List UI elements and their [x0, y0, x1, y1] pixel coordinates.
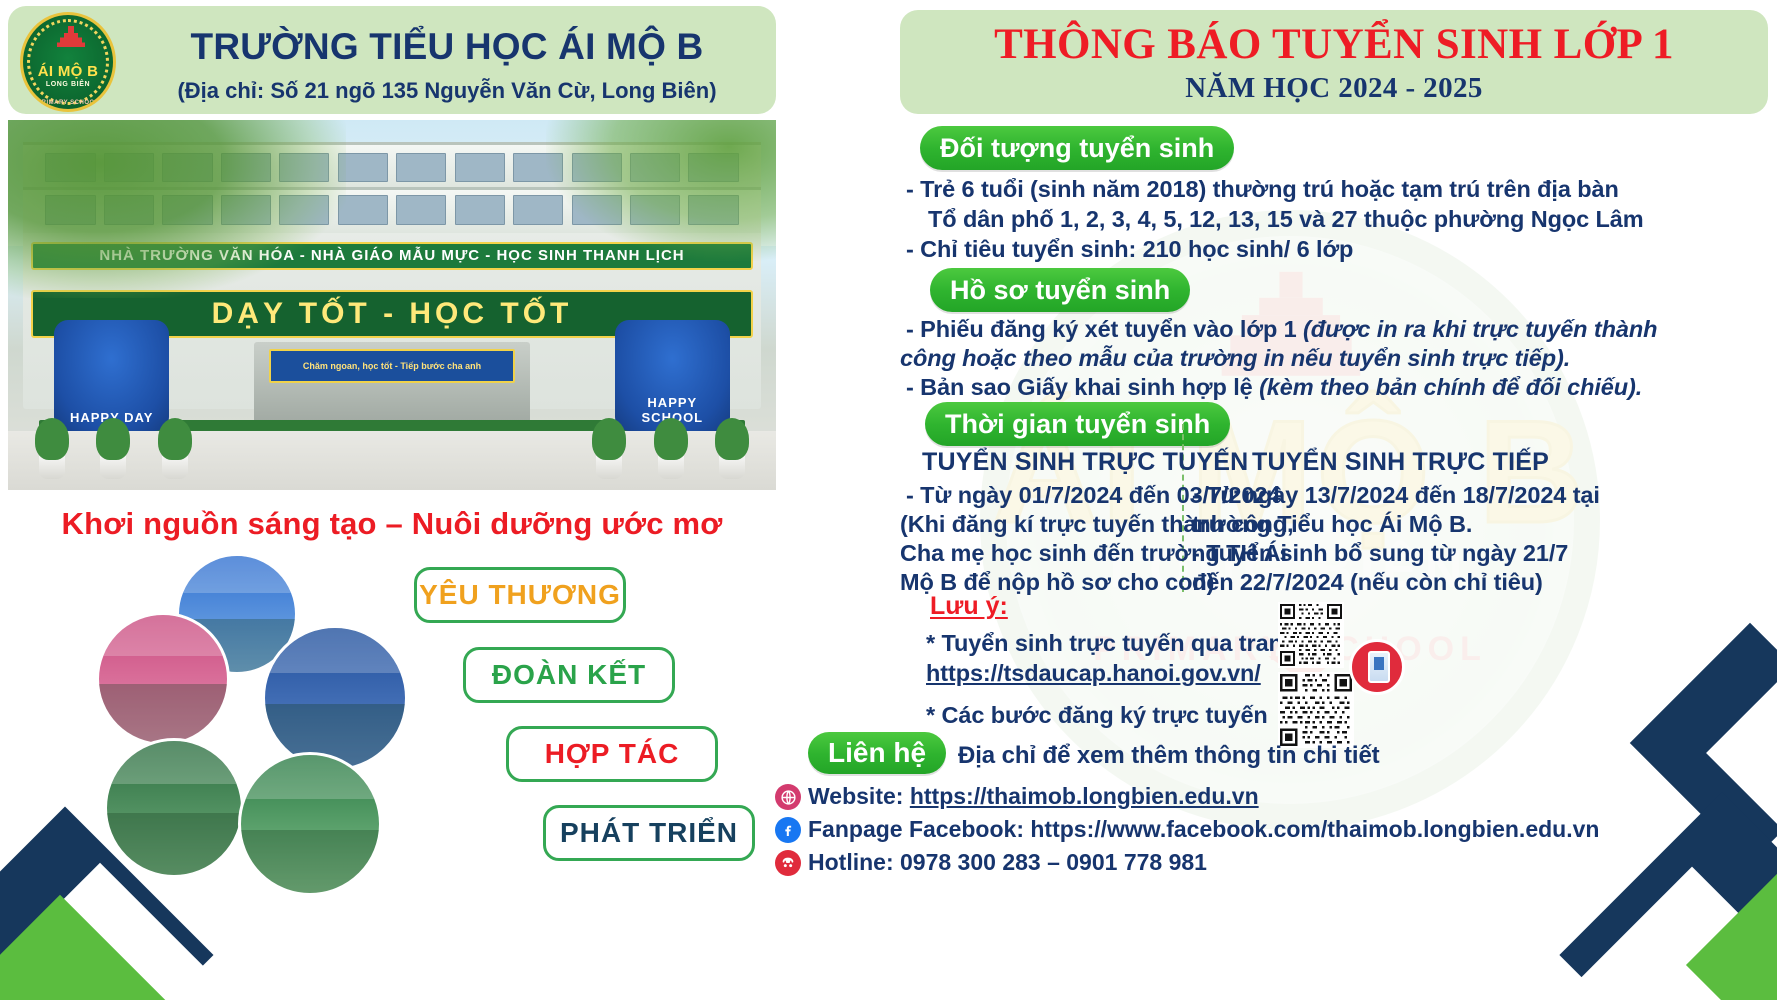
- audience-line-1: - Trẻ 6 tuổi (sinh năm 2018) thường trú …: [906, 176, 1619, 203]
- logo-name: ÁI MỘ B: [23, 63, 113, 80]
- school-address: (Địa chỉ: Số 21 ngõ 135 Nguyễn Văn Cừ, L…: [124, 78, 770, 104]
- section-heading-dossier-label: Hồ sơ tuyển sinh: [950, 275, 1170, 306]
- website-label: Website:: [808, 783, 903, 809]
- activity-photo-circle: [238, 752, 382, 896]
- dossier-item-1-italic: (được in ra khi trực tuyến thành: [1303, 316, 1657, 342]
- photo-balloon-right: HAPPY SCHOOL: [615, 320, 730, 431]
- value-chip-hop-tac: HỢP TÁC: [506, 726, 718, 782]
- logo-sub2: PRIMARY SCHOOL: [23, 100, 113, 106]
- section-heading-time-label: Thời gian tuyển sinh: [945, 409, 1210, 440]
- qr-code-registration[interactable]: [1278, 602, 1344, 668]
- offline-column-title: TUYỂN SINH TRỰC TIẾP: [1252, 448, 1549, 477]
- logo-sub: LONG BIÊN: [23, 81, 113, 88]
- section-heading-audience-label: Đối tượng tuyển sinh: [940, 133, 1214, 164]
- school-header-banner: ÁI MỘ B LONG BIÊN PRIMARY SCHOOL TRƯỜNG …: [8, 6, 776, 114]
- facebook-line: Fanpage Facebook: https://www.facebook.c…: [808, 816, 1599, 843]
- activity-photo-circle: [96, 612, 230, 746]
- school-photo: NHÀ TRƯỜNG VĂN HÓA - NHÀ GIÁO MẪU MỰC - …: [8, 120, 776, 490]
- section-heading-time: Thời gian tuyển sinh: [925, 402, 1230, 446]
- value-chip-label: HỢP TÁC: [545, 738, 680, 770]
- facebook-url[interactable]: https://www.facebook.com/thaimob.longbie…: [1030, 816, 1599, 842]
- dossier-item-2-italic: (kèm theo bản chính để đối chiếu).: [1259, 374, 1642, 400]
- facebook-label: Fanpage Facebook:: [808, 816, 1024, 842]
- activity-photo-circle: [262, 625, 408, 771]
- qr-code-steps[interactable]: [1278, 672, 1354, 748]
- note-line-1: * Tuyển sinh trực tuyến qua trang: [926, 630, 1297, 657]
- website-url[interactable]: https://thaimob.longbien.edu.vn: [910, 783, 1259, 809]
- school-logo: ÁI MỘ B LONG BIÊN PRIMARY SCHOOL: [20, 12, 116, 112]
- photo-tree-left: [8, 120, 346, 298]
- value-chip-label: ĐOÀN KẾT: [492, 659, 646, 691]
- dossier-item-2-bold: - Bản sao Giấy khai sinh hợp lệ: [906, 374, 1253, 400]
- section-heading-dossier: Hồ sơ tuyển sinh: [930, 268, 1190, 312]
- announcement-title: THÔNG BÁO TUYỂN SINH LỚP 1: [900, 20, 1768, 69]
- value-chip-label: YÊU THƯƠNG: [419, 579, 621, 611]
- hotline-value: 0978 300 283 – 0901 778 981: [900, 849, 1207, 875]
- contact-pill: Liên hệ: [808, 732, 946, 774]
- page-title: TRƯỜNG TIỂU HỌC ÁI MỘ B: [124, 26, 770, 68]
- photo-entrance-banner: Chăm ngoan, học tốt - Tiếp bước cha anh: [269, 349, 515, 382]
- offline-line-2: trường Tiểu học Ái Mộ B.: [1192, 511, 1472, 538]
- offline-line-3: - Tuyển sinh bổ sung từ ngày 21/7: [1192, 540, 1568, 567]
- facebook-icon: [775, 817, 801, 843]
- activity-photo-circle: [104, 738, 244, 878]
- hotline-label: Hotline:: [808, 849, 894, 875]
- offline-line-1: - Từ ngày 13/7/2024 đến 18/7/2024 tại: [1192, 482, 1600, 509]
- flag-tower-icon: [56, 25, 86, 55]
- audience-line-3: - Chỉ tiêu tuyển sinh: 210 học sinh/ 6 l…: [906, 236, 1353, 263]
- website-line: Website: https://thaimob.longbien.edu.vn: [808, 783, 1259, 810]
- mobile-registration-icon: [1349, 639, 1405, 695]
- photo-bush: [654, 418, 688, 460]
- school-slogan: Khơi nguồn sáng tạo – Nuôi dưỡng ước mơ: [8, 506, 776, 542]
- audience-line-2: Tổ dân phố 1, 2, 3, 4, 5, 12, 13, 15 và …: [928, 206, 1644, 233]
- telephone-icon: [775, 850, 801, 876]
- photo-bush: [158, 418, 192, 460]
- photo-bush: [592, 418, 626, 460]
- value-chip-label: PHÁT TRIỂN: [560, 817, 738, 849]
- section-heading-audience: Đối tượng tuyển sinh: [920, 126, 1234, 170]
- contact-pill-label: Liên hệ: [828, 737, 926, 769]
- value-chip-yeu-thuong: YÊU THƯƠNG: [414, 567, 626, 623]
- enrollment-poster: ÁI MỘ B LONG BIÊN ★ PRIMARY SCHOOL ÁI MỘ…: [0, 0, 1777, 1000]
- contact-tagline: Địa chỉ để xem thêm thông tin chi tiết: [958, 742, 1380, 770]
- note-line-2: * Các bước đăng ký trực tuyến: [926, 702, 1268, 729]
- announcement-header-banner: THÔNG BÁO TUYỂN SINH LỚP 1 NĂM HỌC 2024 …: [900, 10, 1768, 114]
- photo-balloon-left: HAPPY DAY: [54, 320, 169, 431]
- value-chip-doan-ket: ĐOÀN KẾT: [463, 647, 675, 703]
- value-chip-phat-trien: PHÁT TRIỂN: [543, 805, 755, 861]
- announcement-subtitle: NĂM HỌC 2024 - 2025: [900, 72, 1768, 105]
- photo-bush: [715, 418, 749, 460]
- dossier-item-1-bold: - Phiếu đăng ký xét tuyển vào lớp 1: [906, 316, 1297, 342]
- globe-icon: [775, 784, 801, 810]
- photo-bush: [96, 418, 130, 460]
- photo-bush: [35, 418, 69, 460]
- note-label: Lưu ý:: [930, 592, 1008, 621]
- offline-line-4: đến 22/7/2024 (nếu còn chỉ tiêu): [1192, 569, 1543, 596]
- dossier-item-1: - Phiếu đăng ký xét tuyển vào lớp 1 (đượ…: [906, 316, 1657, 343]
- hotline-line: Hotline: 0978 300 283 – 0901 778 981: [808, 849, 1207, 876]
- online-column-title: TUYỂN SINH TRỰC TUYẾN: [922, 448, 1248, 477]
- photo-tree-right: [546, 120, 776, 261]
- online-registration-link[interactable]: https://tsdaucap.hanoi.gov.vn/: [926, 660, 1261, 687]
- dossier-item-2: - Bản sao Giấy khai sinh hợp lệ (kèm the…: [906, 374, 1642, 401]
- dossier-item-1-cont: công hoặc theo mẫu của trường in nếu tuy…: [900, 345, 1570, 372]
